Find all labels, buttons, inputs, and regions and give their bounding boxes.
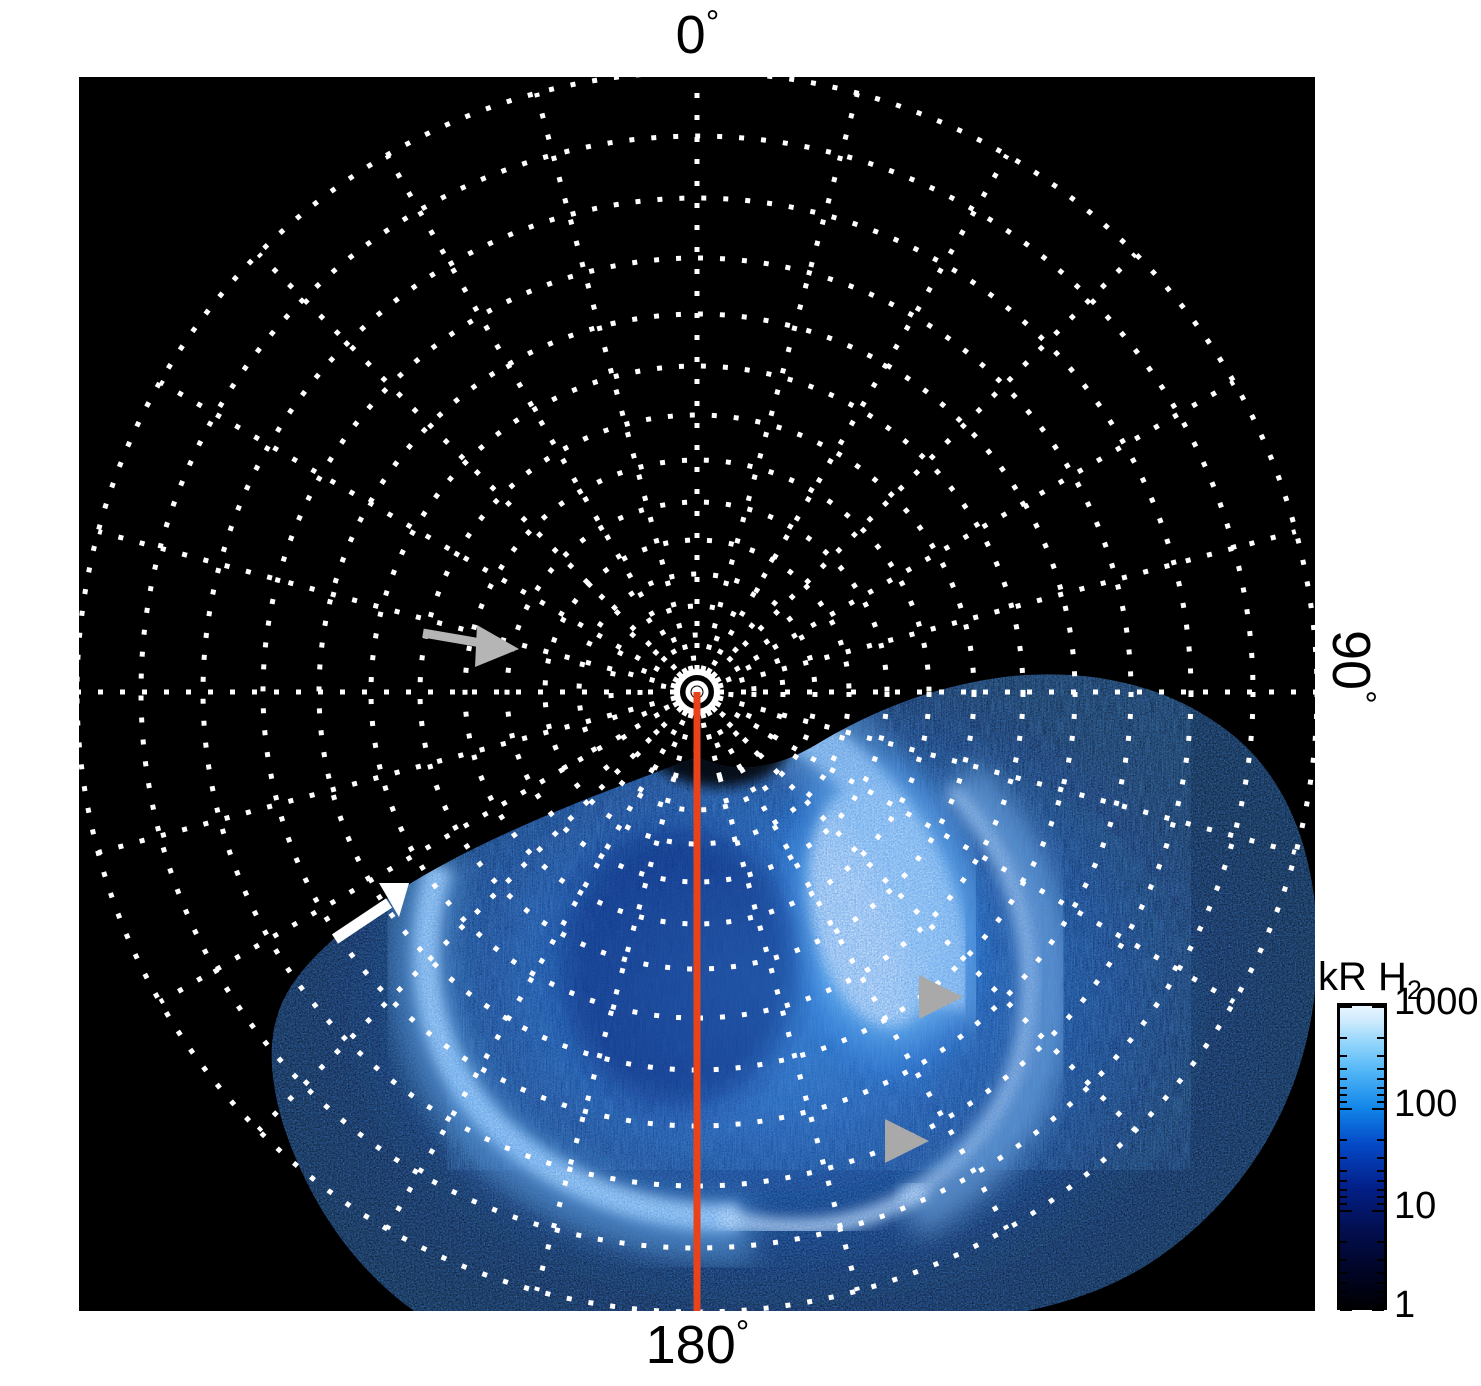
axis-label-90-deg: 90° <box>1324 630 1378 704</box>
colorbar-minor-tick <box>1340 1291 1347 1293</box>
colorbar-tick-10 <box>1340 1210 1352 1212</box>
colorbar-minor-tick <box>1340 1078 1347 1080</box>
colorbar-minor-tick <box>1377 1241 1384 1243</box>
colorbar-minor-tick <box>1377 1180 1384 1182</box>
colorbar-tick-1 <box>1340 1309 1352 1311</box>
colorbar-minor-tick <box>1340 1170 1347 1172</box>
colorbar: kR H2 <box>1318 945 1481 1345</box>
colorbar-minor-tick <box>1377 1170 1384 1172</box>
colorbar-minor-tick <box>1377 1305 1384 1307</box>
colorbar-minor-tick <box>1340 1068 1347 1070</box>
colorbar-minor-tick <box>1340 1241 1347 1243</box>
colorbar-minor-tick <box>1340 1196 1347 1198</box>
colorbar-minor-tick <box>1340 1305 1347 1307</box>
colorbar-tick-100 <box>1340 1108 1352 1110</box>
colorbar-minor-tick <box>1340 1139 1347 1141</box>
polar-auroral-figure: 0° 180° 270° 90° <box>0 0 1481 1386</box>
colorbar-minor-tick <box>1377 1291 1384 1293</box>
colorbar-label-10: 10 <box>1394 1187 1436 1225</box>
colorbar-minor-tick <box>1340 1101 1347 1103</box>
colorbar-tick-10-r <box>1372 1210 1384 1212</box>
colorbar-minor-tick <box>1340 1055 1347 1057</box>
colorbar-label-100: 100 <box>1394 1085 1457 1123</box>
polar-plot-panel <box>79 77 1315 1311</box>
colorbar-minor-tick <box>1377 1196 1384 1198</box>
colorbar-minor-tick <box>1377 1055 1384 1057</box>
colorbar-minor-tick <box>1340 1298 1347 1300</box>
colorbar-minor-tick <box>1340 1157 1347 1159</box>
colorbar-gradient <box>1337 1003 1387 1310</box>
axis-label-180-deg: 180° <box>0 1318 1395 1372</box>
colorbar-label-1: 1 <box>1394 1286 1415 1324</box>
colorbar-tick-1000 <box>1340 1006 1352 1008</box>
axis-label-0-deg: 0° <box>0 8 1395 62</box>
colorbar-minor-tick <box>1340 1180 1347 1182</box>
colorbar-minor-tick <box>1377 1259 1384 1261</box>
colorbar-tick-100-r <box>1372 1108 1384 1110</box>
colorbar-minor-tick <box>1377 1094 1384 1096</box>
colorbar-minor-tick <box>1377 1139 1384 1141</box>
colorbar-minor-tick <box>1377 1189 1384 1191</box>
colorbar-minor-tick <box>1377 1203 1384 1205</box>
colorbar-minor-tick <box>1377 1157 1384 1159</box>
colorbar-minor-tick <box>1340 1087 1347 1089</box>
dark-inner-oval <box>559 827 799 1107</box>
colorbar-minor-tick <box>1377 1078 1384 1080</box>
colorbar-minor-tick <box>1340 1282 1347 1284</box>
colorbar-minor-tick <box>1377 1087 1384 1089</box>
colorbar-minor-tick <box>1377 1101 1384 1103</box>
colorbar-minor-tick <box>1340 1203 1347 1205</box>
colorbar-minor-tick <box>1377 1298 1384 1300</box>
polar-plot-svg <box>79 77 1315 1311</box>
colorbar-minor-tick <box>1340 1259 1347 1261</box>
colorbar-label-1000: 1000 <box>1394 983 1479 1021</box>
colorbar-minor-tick <box>1377 1272 1384 1274</box>
colorbar-tick-1000-r <box>1372 1006 1384 1008</box>
colorbar-minor-tick <box>1340 1094 1347 1096</box>
colorbar-minor-tick <box>1377 1037 1384 1039</box>
colorbar-minor-tick <box>1377 1068 1384 1070</box>
colorbar-minor-tick <box>1340 1037 1347 1039</box>
aurora-image-layer <box>219 637 1315 1311</box>
gray-arrow-polar-cap <box>423 625 519 667</box>
colorbar-minor-tick <box>1377 1282 1384 1284</box>
colorbar-minor-tick <box>1340 1189 1347 1191</box>
colorbar-minor-tick <box>1340 1272 1347 1274</box>
colorbar-tick-1-r <box>1372 1309 1384 1311</box>
